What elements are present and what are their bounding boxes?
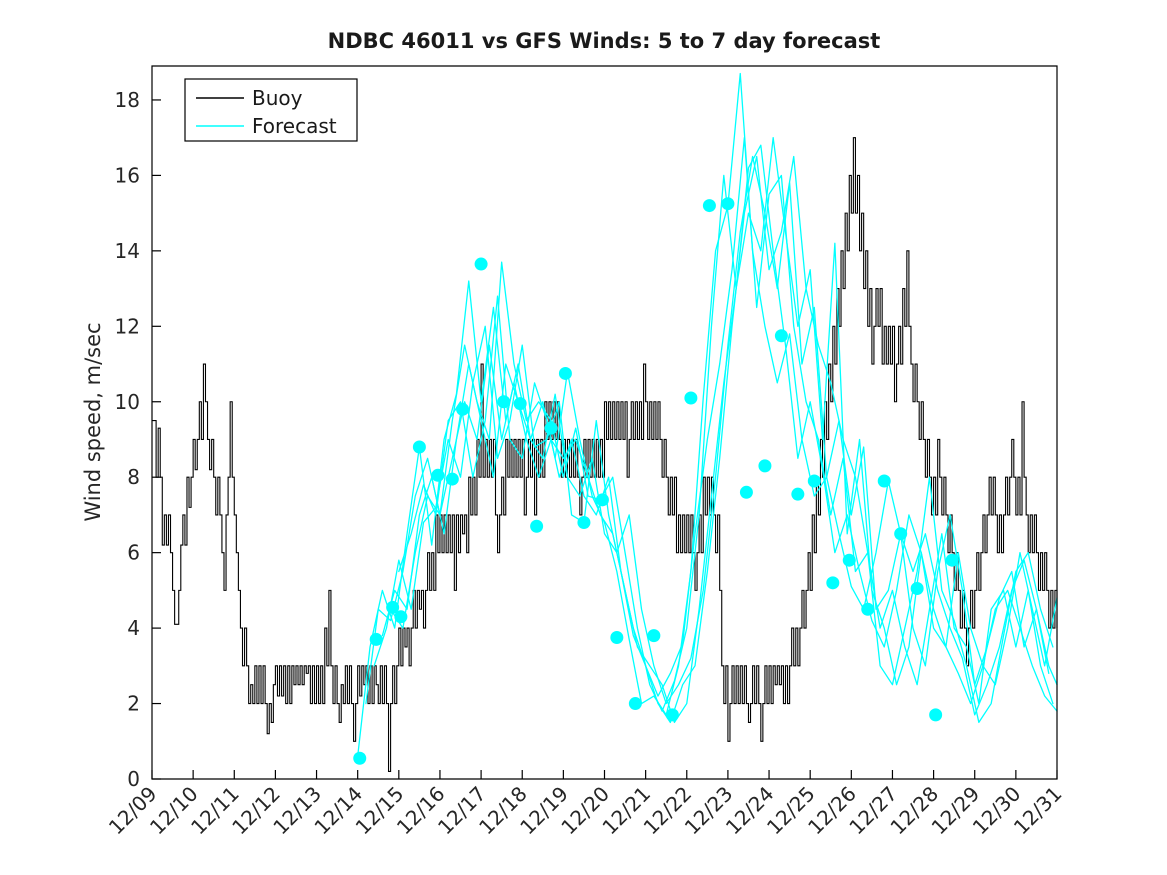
forecast-marker [826, 576, 839, 589]
y-axis-label: Wind speed, m/sec [81, 322, 105, 521]
forecast-marker [545, 422, 558, 435]
y-tick-label: 14 [115, 239, 140, 263]
forecast-marker [456, 403, 469, 416]
forecast-marker [929, 708, 942, 721]
forecast-marker [394, 610, 407, 623]
forecast-marker [610, 631, 623, 644]
forecast-marker [413, 441, 426, 454]
forecast-marker [791, 488, 804, 501]
forecast-marker [475, 258, 488, 271]
forecast-marker [446, 473, 459, 486]
y-tick-label: 2 [127, 692, 140, 716]
y-tick-label: 10 [115, 390, 140, 414]
y-tick-label: 16 [115, 163, 140, 187]
y-tick-label: 6 [127, 541, 140, 565]
y-tick-label: 4 [127, 616, 140, 640]
legend-label-forecast: Forecast [252, 114, 337, 138]
y-tick-label: 8 [127, 465, 140, 489]
forecast-marker [530, 520, 543, 533]
forecast-marker [808, 474, 821, 487]
forecast-marker [703, 199, 716, 212]
forecast-marker [514, 397, 527, 410]
forecast-marker [647, 629, 660, 642]
forecast-marker [721, 197, 734, 210]
forecast-marker [577, 516, 590, 529]
forecast-marker [843, 554, 856, 567]
forecast-marker [861, 603, 874, 616]
wind-speed-chart: NDBC 46011 vs GFS Winds: 5 to 7 day fore… [0, 0, 1167, 875]
forecast-marker [353, 752, 366, 765]
forecast-marker [758, 459, 771, 472]
chart-title: NDBC 46011 vs GFS Winds: 5 to 7 day fore… [328, 29, 881, 53]
forecast-marker [666, 708, 679, 721]
y-tick-label: 12 [115, 314, 140, 338]
forecast-marker [559, 367, 572, 380]
forecast-marker [894, 527, 907, 540]
y-tick-label: 18 [115, 88, 140, 112]
figure-container: NDBC 46011 vs GFS Winds: 5 to 7 day fore… [0, 0, 1167, 875]
forecast-marker [431, 469, 444, 482]
forecast-marker [497, 395, 510, 408]
forecast-marker [596, 493, 609, 506]
forecast-marker [370, 633, 383, 646]
legend-label-buoy: Buoy [252, 86, 303, 110]
forecast-marker [629, 697, 642, 710]
legend: Buoy Forecast [185, 79, 357, 141]
forecast-marker [911, 582, 924, 595]
forecast-marker [684, 391, 697, 404]
forecast-marker [946, 554, 959, 567]
forecast-marker [740, 486, 753, 499]
forecast-marker [775, 329, 788, 342]
forecast-marker [878, 474, 891, 487]
